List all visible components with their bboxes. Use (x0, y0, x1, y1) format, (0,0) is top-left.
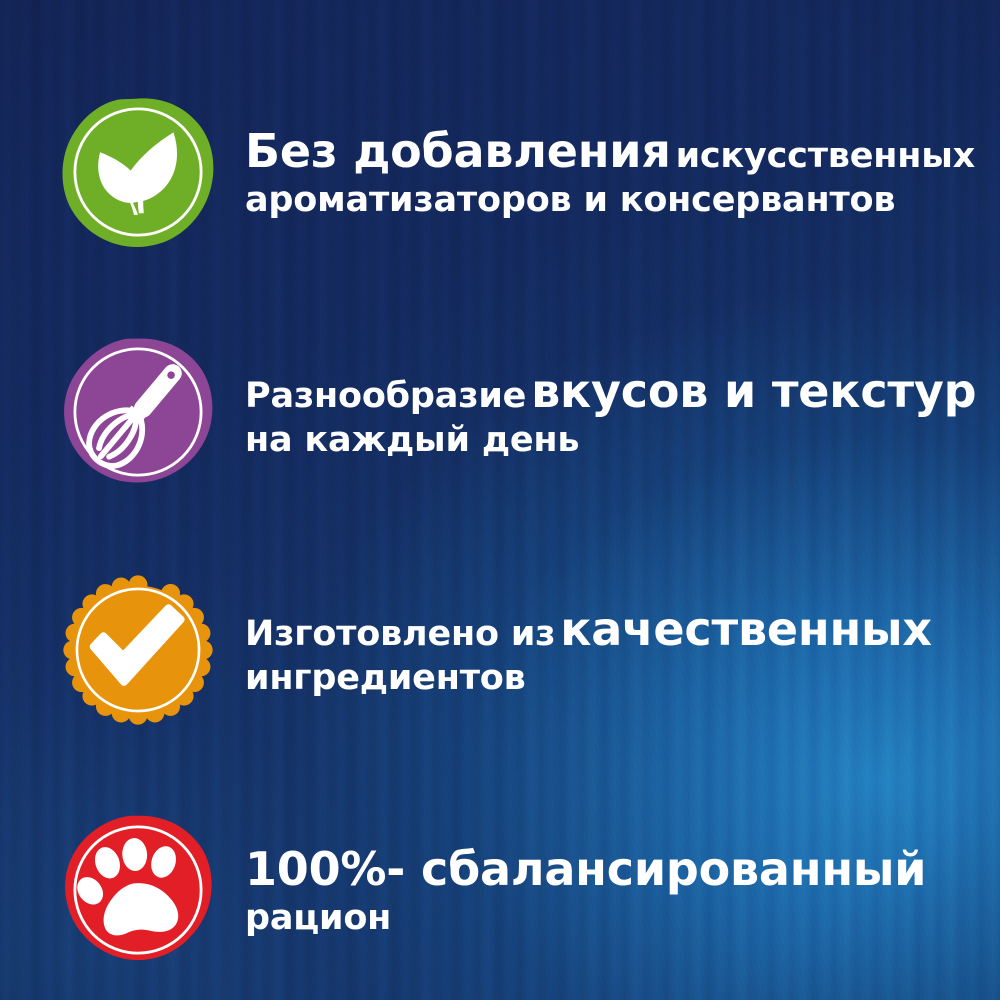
leaf-sprout-icon (62, 98, 213, 247)
benefit-text-balanced: 100%- сбалансированный рацион (245, 842, 1000, 938)
benefit-text-quality: Изготовлено из качественных ингредиентов (245, 602, 1000, 698)
benefit-lead-2: Изготовлено из (245, 614, 555, 654)
badge-balanced (50, 803, 225, 978)
benefit-line2-2: ингредиентов (245, 658, 526, 698)
benefit-item-balanced-diet: 100%- сбалансированный рацион (0, 790, 1000, 990)
leaf-sprout-badge (55, 90, 220, 255)
benefit-text-no-additives: Без добавления искусственных ароматизато… (245, 124, 1000, 220)
badge-no-additives (50, 85, 225, 260)
benefit-item-quality-ingredients: Изготовлено из качественных ингредиентов (0, 550, 1000, 750)
benefit-emphasis-2: качественных (560, 602, 932, 656)
benefit-text-variety: Разнообразие вкусов и текстур на каждый … (245, 364, 1000, 460)
benefit-line2-3: рацион (245, 898, 391, 938)
benefit-emphasis-1: вкусов и текстур (531, 364, 976, 418)
benefit-item-no-additives: Без добавления искусственных ароматизато… (0, 72, 1000, 272)
benefit-emphasis-3: 100%- сбалансированный (245, 842, 926, 896)
badge-quality (50, 563, 225, 738)
whisk-icon (64, 339, 212, 483)
benefit-line2-1: на каждый день (245, 420, 579, 460)
paw-print-icon (65, 816, 212, 960)
check-rosette-badge (55, 568, 220, 733)
paw-print-badge (55, 808, 220, 973)
check-rosette-icon (63, 575, 212, 724)
benefit-item-variety: Разнообразие вкусов и текстур на каждый … (0, 312, 1000, 512)
benefit-list: Без добавления искусственных ароматизато… (0, 0, 1000, 1000)
benefit-emphasis-0: Без добавления (245, 124, 671, 178)
benefit-rest-0: искусственных (676, 136, 976, 176)
badge-variety (50, 325, 225, 500)
whisk-badge (55, 330, 220, 495)
infographic-canvas: Без добавления искусственных ароматизато… (0, 0, 1000, 1000)
benefit-lead-1: Разнообразие (245, 376, 526, 416)
benefit-line2-0: ароматизаторов и консервантов (245, 180, 895, 220)
